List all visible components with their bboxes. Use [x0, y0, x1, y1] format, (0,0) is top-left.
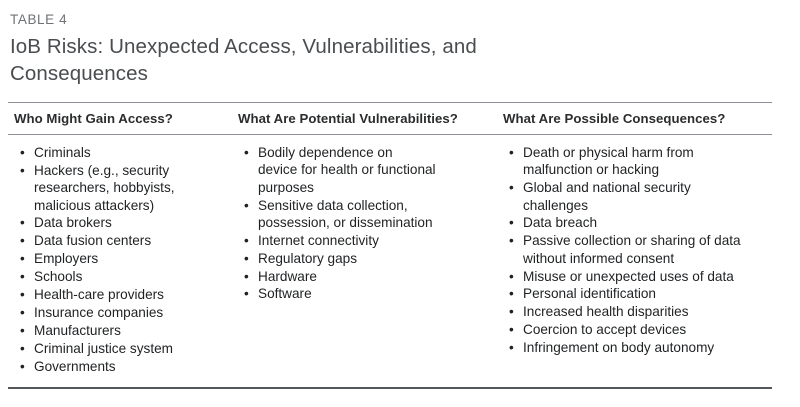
bullet-icon: •: [20, 358, 25, 375]
list-item: •Coercion to accept devices: [503, 321, 772, 338]
list-item-label: Global and national security challenges: [523, 179, 772, 214]
bullet-icon: •: [20, 340, 25, 357]
bottom-spacer: [0, 375, 800, 387]
list-item: •Health-care providers: [14, 286, 238, 303]
bullet-icon: •: [20, 304, 25, 321]
list-item-label: Data brokers: [34, 214, 238, 231]
bullet-icon: •: [20, 214, 25, 231]
bullet-icon: •: [244, 285, 249, 302]
rule-table-bottom: [8, 387, 772, 389]
list-item: •Criminals: [14, 144, 238, 161]
list-item: •Software: [238, 285, 503, 302]
bullet-icon: •: [20, 286, 25, 303]
table-cell-potential-vulnerabilities: •Bodily dependence on device for health …: [238, 144, 503, 376]
list-item: •Misuse or unexpected uses of data: [503, 268, 772, 285]
list-who-might-gain-access: •Criminals•Hackers (e.g., security resea…: [14, 144, 238, 375]
list-item-label: Data breach: [523, 214, 772, 231]
list-item: •Data breach: [503, 214, 772, 231]
list-item: •Data brokers: [14, 214, 238, 231]
bullet-icon: •: [20, 268, 25, 285]
list-item: •Sensitive data collection, possession, …: [238, 197, 503, 232]
bullet-icon: •: [20, 322, 25, 339]
list-item-label: Personal identification: [523, 285, 772, 302]
table-cell-possible-consequences: •Death or physical harm from malfunction…: [503, 144, 772, 376]
list-item: •Passive collection or sharing of data w…: [503, 232, 772, 267]
bullet-icon: •: [509, 268, 514, 285]
list-item-label: Schools: [34, 268, 238, 285]
bullet-icon: •: [244, 268, 249, 285]
list-item-label: Governments: [34, 358, 238, 375]
list-item-label: Insurance companies: [34, 304, 238, 321]
column-header-possible-consequences: What Are Possible Consequences?: [503, 109, 772, 129]
bullet-icon: •: [244, 232, 249, 249]
list-item: •Personal identification: [503, 285, 772, 302]
list-possible-consequences: •Death or physical harm from malfunction…: [503, 144, 772, 357]
bullet-icon: •: [244, 197, 249, 214]
list-item: •Criminal justice system: [14, 340, 238, 357]
list-item-label: Infringement on body autonomy: [523, 339, 772, 356]
list-item-label: Passive collection or sharing of data wi…: [523, 232, 772, 267]
table-label-row: TABLE 4: [0, 0, 800, 28]
list-item: •Insurance companies: [14, 304, 238, 321]
table-number-label: TABLE 4: [10, 12, 800, 28]
list-item: •Governments: [14, 358, 238, 375]
list-item: •Death or physical harm from malfunction…: [503, 144, 772, 179]
list-item: •Bodily dependence on device for health …: [238, 144, 503, 196]
list-item: •Hackers (e.g., security researchers, ho…: [14, 162, 238, 214]
table-title: IoB Risks: Unexpected Access, Vulnerabil…: [10, 33, 570, 88]
list-item-label: Hardware: [258, 268, 503, 285]
list-item-label: Software: [258, 285, 503, 302]
column-header-who-might-gain-access: Who Might Gain Access?: [8, 109, 238, 129]
list-item-label: Health-care providers: [34, 286, 238, 303]
list-item-label: Misuse or unexpected uses of data: [523, 268, 772, 285]
list-item-label: Hackers (e.g., security researchers, hob…: [34, 162, 238, 214]
list-item: •Schools: [14, 268, 238, 285]
bullet-icon: •: [509, 303, 514, 320]
list-item-label: Criminal justice system: [34, 340, 238, 357]
list-item-label: Coercion to accept devices: [523, 321, 772, 338]
list-item: •Hardware: [238, 268, 503, 285]
list-item-label: Sensitive data collection, possession, o…: [258, 197, 503, 232]
bullet-icon: •: [20, 144, 25, 161]
bullet-icon: •: [20, 250, 25, 267]
bullet-icon: •: [509, 339, 514, 356]
bullet-icon: •: [20, 162, 25, 179]
list-item: •Data fusion centers: [14, 232, 238, 249]
bullet-icon: •: [244, 250, 249, 267]
list-item: •Manufacturers: [14, 322, 238, 339]
table-body-row: •Criminals•Hackers (e.g., security resea…: [8, 135, 772, 376]
table-cell-who-might-gain-access: •Criminals•Hackers (e.g., security resea…: [8, 144, 238, 376]
table-figure: TABLE 4 IoB Risks: Unexpected Access, Vu…: [0, 0, 800, 407]
table-header-row: Who Might Gain Access? What Are Potentia…: [8, 103, 772, 134]
list-item-label: Increased health disparities: [523, 303, 772, 320]
column-header-potential-vulnerabilities: What Are Potential Vulnerabilities?: [238, 109, 503, 129]
list-item-label: Regulatory gaps: [258, 250, 503, 267]
list-item: •Infringement on body autonomy: [503, 339, 772, 356]
list-item-label: Criminals: [34, 144, 238, 161]
bullet-icon: •: [509, 321, 514, 338]
list-item: •Internet connectivity: [238, 232, 503, 249]
list-item-label: Employers: [34, 250, 238, 267]
bullet-icon: •: [244, 144, 249, 161]
bullet-icon: •: [20, 232, 25, 249]
list-item-label: Internet connectivity: [258, 232, 503, 249]
list-item-label: Death or physical harm from malfunction …: [523, 144, 772, 179]
bullet-icon: •: [509, 179, 514, 196]
list-item: •Global and national security challenges: [503, 179, 772, 214]
list-item-label: Manufacturers: [34, 322, 238, 339]
list-item: •Regulatory gaps: [238, 250, 503, 267]
bullet-icon: •: [509, 285, 514, 302]
list-item-label: Data fusion centers: [34, 232, 238, 249]
bullet-icon: •: [509, 214, 514, 231]
list-potential-vulnerabilities: •Bodily dependence on device for health …: [238, 144, 503, 303]
list-item: •Employers: [14, 250, 238, 267]
bullet-icon: •: [509, 144, 514, 161]
list-item: •Increased health disparities: [503, 303, 772, 320]
bullet-icon: •: [509, 232, 514, 249]
list-item-label: Bodily dependence on device for health o…: [258, 144, 503, 196]
